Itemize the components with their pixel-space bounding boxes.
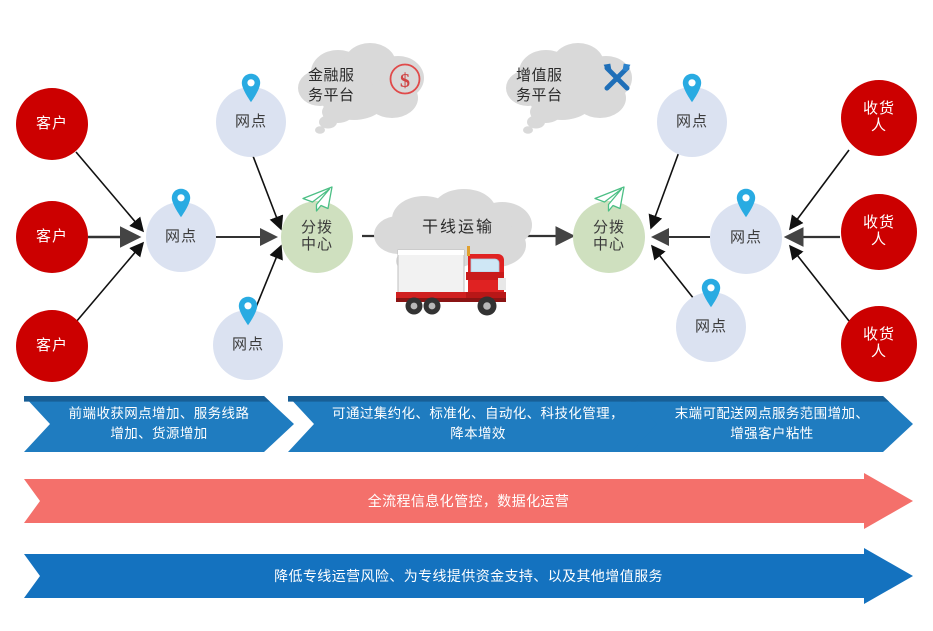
consignee-label-3: 收货 人	[863, 327, 895, 361]
distribution-center-right[interactable]: 分拨 中心	[573, 201, 645, 273]
bar-last-mile-label: 末端可配送网点服务范围增加、 增强客户粘性	[649, 404, 896, 443]
customer-label-2: 客户	[36, 229, 68, 246]
branch-node-left-middle[interactable]: 网点	[146, 202, 216, 272]
consignee-label-2: 收货 人	[863, 215, 895, 249]
branch-label-right-top: 网点	[676, 114, 708, 131]
branch-node-left-top[interactable]: 网点	[216, 87, 286, 157]
branch-node-right-bottom[interactable]: 网点	[676, 292, 746, 362]
bar-middle-management-label: 可通过集约化、标准化、自动化、科技化管理， 降本增效	[306, 404, 650, 443]
distribution-center-left-label: 分拨 中心	[301, 220, 333, 254]
bar-financial-support[interactable]: 降低专线运营风险、为专线提供资金支持、以及其他增值服务	[24, 548, 913, 604]
distribution-center-right-label: 分拨 中心	[593, 220, 625, 254]
diagram-canvas: 客户 客户 客户 网点 网点 网点 分拨 中心	[0, 0, 933, 631]
consignee-node-1[interactable]: 收货 人	[841, 80, 917, 156]
bar-middle-management[interactable]: 可通过集约化、标准化、自动化、科技化管理， 降本增效	[288, 396, 668, 452]
consignee-node-3[interactable]: 收货 人	[841, 306, 917, 382]
customer-node-3[interactable]: 客户	[16, 310, 88, 382]
bar-information-control[interactable]: 全流程信息化管控，数据化运营	[24, 473, 913, 529]
bar-front-end[interactable]: 前端收获网点增加、服务线路 增加、货源增加	[24, 396, 294, 452]
branch-label-left-top: 网点	[235, 114, 267, 131]
branch-label-right-bottom: 网点	[695, 319, 727, 336]
branch-node-right-middle[interactable]: 网点	[710, 202, 782, 274]
bar-information-control-label: 全流程信息化管控，数据化运营	[358, 491, 580, 511]
customer-node-2[interactable]: 客户	[16, 201, 88, 273]
branch-node-left-bottom[interactable]: 网点	[213, 310, 283, 380]
branch-label-left-middle: 网点	[165, 229, 197, 246]
customer-label-3: 客户	[36, 338, 68, 355]
consignee-node-2[interactable]: 收货 人	[841, 194, 917, 270]
bar-last-mile[interactable]: 末端可配送网点服务范围增加、 增强客户粘性	[631, 396, 913, 452]
customer-label-1: 客户	[36, 116, 68, 133]
customer-node-1[interactable]: 客户	[16, 88, 88, 160]
branch-node-right-top[interactable]: 网点	[657, 87, 727, 157]
connector-lines	[0, 0, 933, 631]
consignee-label-1: 收货 人	[863, 101, 895, 135]
bar-front-end-label: 前端收获网点增加、服务线路 增加、货源增加	[43, 404, 276, 443]
branch-label-right-middle: 网点	[730, 230, 762, 247]
branch-label-left-bottom: 网点	[232, 337, 264, 354]
bar-financial-support-label: 降低专线运营风险、为专线提供资金支持、以及其他增值服务	[264, 566, 673, 586]
distribution-center-left[interactable]: 分拨 中心	[281, 201, 353, 273]
